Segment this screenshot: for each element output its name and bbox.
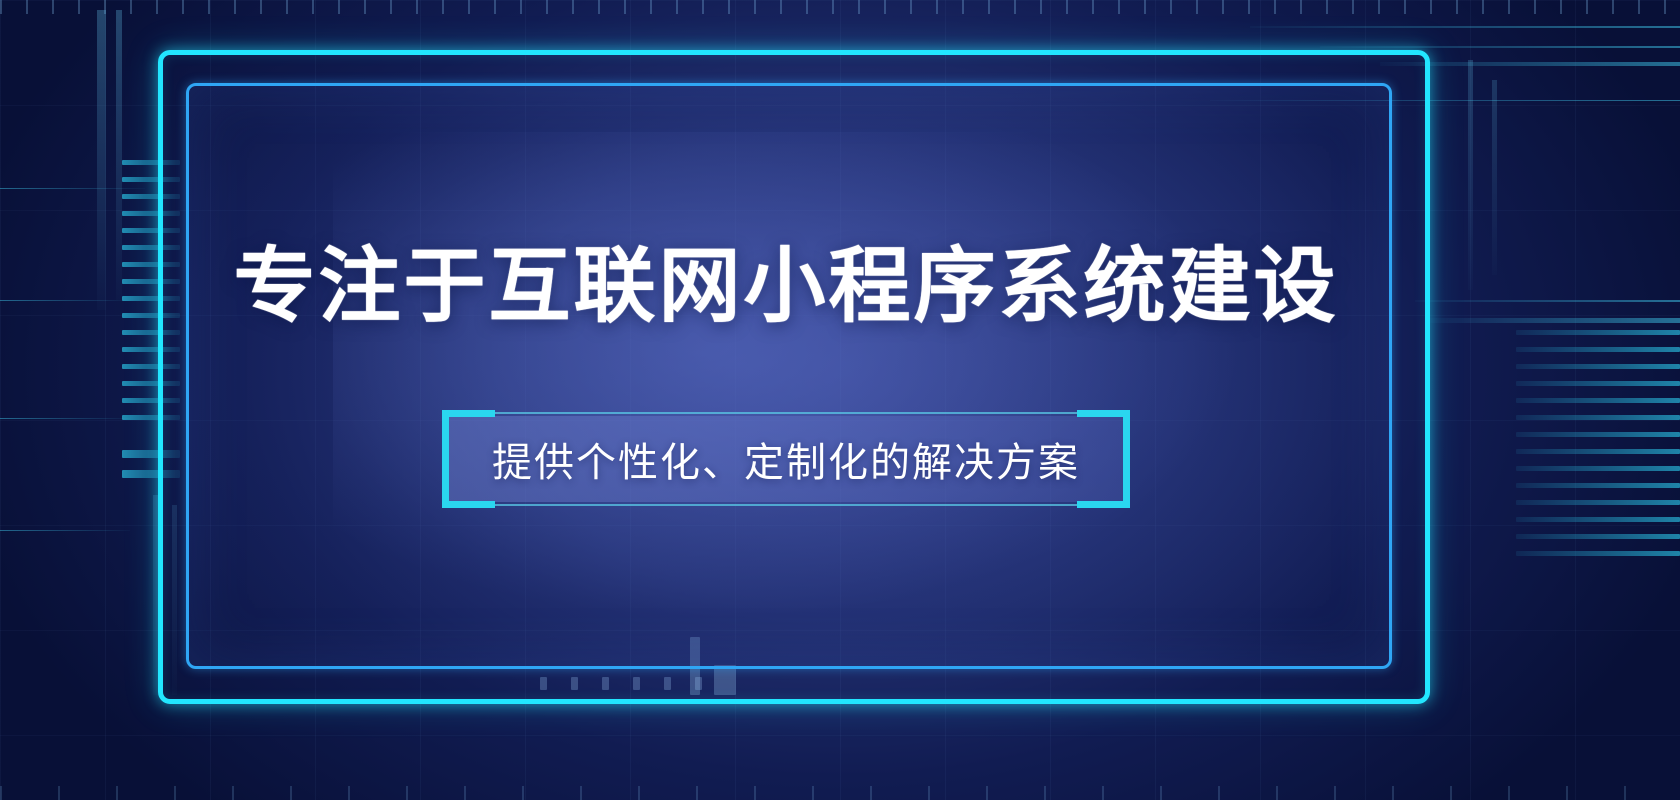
corner-bracket-bottom-left-icon	[442, 455, 495, 508]
decor-rule	[0, 418, 130, 419]
decor-vertical-bar	[172, 505, 177, 695]
left-tick-stack-lower	[122, 450, 180, 490]
left-tick-stack	[122, 160, 180, 432]
decor-rule	[1250, 26, 1680, 28]
banner-subtitle: 提供个性化、定制化的解决方案	[492, 430, 1080, 488]
corner-bracket-bottom-right-icon	[1077, 455, 1130, 508]
decor-vertical-bar	[97, 10, 106, 310]
decor-vertical-bar	[116, 10, 122, 300]
subtitle-bottom-edge	[488, 504, 1084, 506]
decor-vertical-bar	[1492, 80, 1497, 275]
decor-dot-row	[540, 677, 702, 690]
decor-mini-bar	[714, 665, 736, 695]
decor-rule	[0, 188, 145, 189]
decor-rule	[1415, 300, 1680, 302]
hero-banner: 专注于互联网小程序系统建设 提供个性化、定制化的解决方案	[0, 0, 1680, 800]
decor-vertical-bar	[153, 495, 158, 695]
top-tick-ruler	[0, 0, 1680, 14]
bottom-tick-ruler	[0, 786, 1680, 800]
subtitle-box: 提供个性化、定制化的解决方案	[448, 416, 1124, 502]
banner-content: 专注于互联网小程序系统建设 提供个性化、定制化的解决方案	[186, 83, 1386, 663]
corner-bracket-top-left-icon	[442, 410, 495, 463]
decor-rule	[1380, 62, 1680, 66]
decor-rule	[1430, 318, 1680, 323]
decor-vertical-bar	[1468, 60, 1473, 290]
decor-rule	[0, 530, 130, 531]
decor-rule	[1320, 46, 1680, 48]
corner-bracket-top-right-icon	[1077, 410, 1130, 463]
right-tick-stack	[1516, 330, 1680, 568]
banner-headline: 专注于互联网小程序系统建设	[233, 244, 1338, 330]
subtitle-top-edge	[488, 412, 1084, 414]
decor-rule	[0, 300, 130, 301]
